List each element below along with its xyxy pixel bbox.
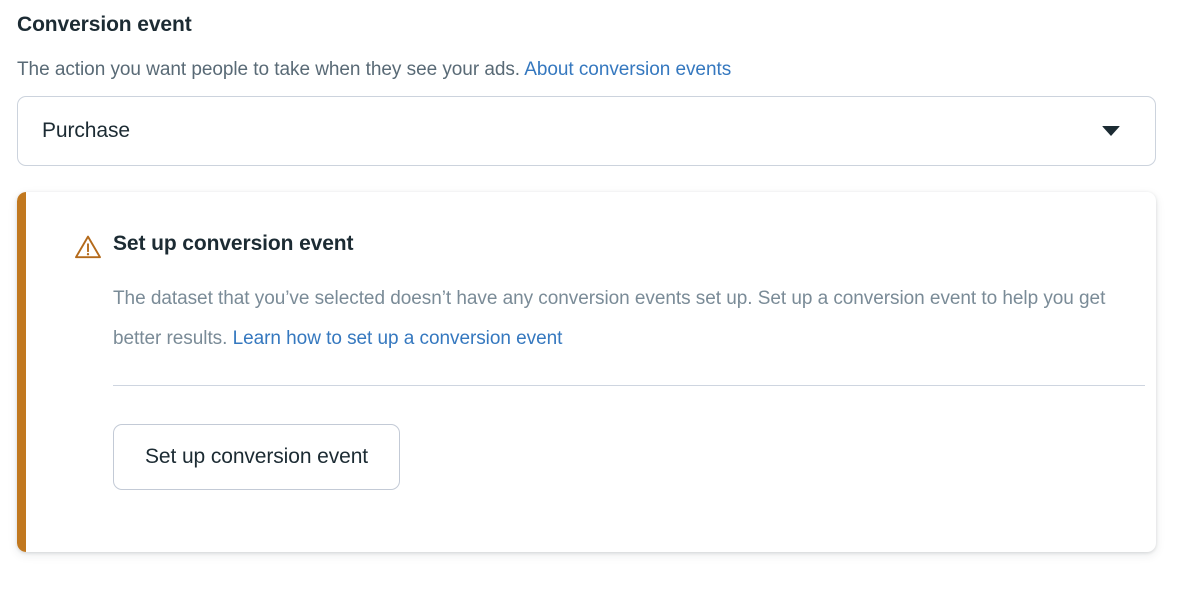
conversion-event-section: Conversion event The action you want peo… [0, 0, 1178, 594]
card-actions: Set up conversion event [113, 424, 1128, 490]
card-body: Set up conversion event The dataset that… [26, 192, 1156, 552]
conversion-event-select[interactable]: Purchase [17, 96, 1156, 166]
warning-triangle-icon [74, 233, 102, 261]
card-description: The dataset that you’ve selected doesn’t… [113, 279, 1145, 359]
section-description: The action you want people to take when … [17, 57, 731, 83]
card-title: Set up conversion event [113, 230, 1128, 258]
chevron-down-icon[interactable] [1089, 126, 1133, 136]
card-header: Set up conversion event [113, 230, 1128, 264]
setup-conversion-event-card: Set up conversion event The dataset that… [17, 192, 1156, 552]
page-title: Conversion event [17, 11, 192, 39]
about-conversion-events-link[interactable]: About conversion events [524, 59, 731, 80]
conversion-event-select-value: Purchase [18, 118, 1089, 144]
section-description-text: The action you want people to take when … [17, 59, 524, 80]
learn-how-to-set-up-link[interactable]: Learn how to set up a conversion event [233, 328, 563, 349]
card-accent-bar [17, 192, 26, 552]
chevron-down-glyph [1102, 126, 1120, 136]
set-up-conversion-event-button[interactable]: Set up conversion event [113, 424, 400, 490]
card-divider [113, 385, 1145, 386]
